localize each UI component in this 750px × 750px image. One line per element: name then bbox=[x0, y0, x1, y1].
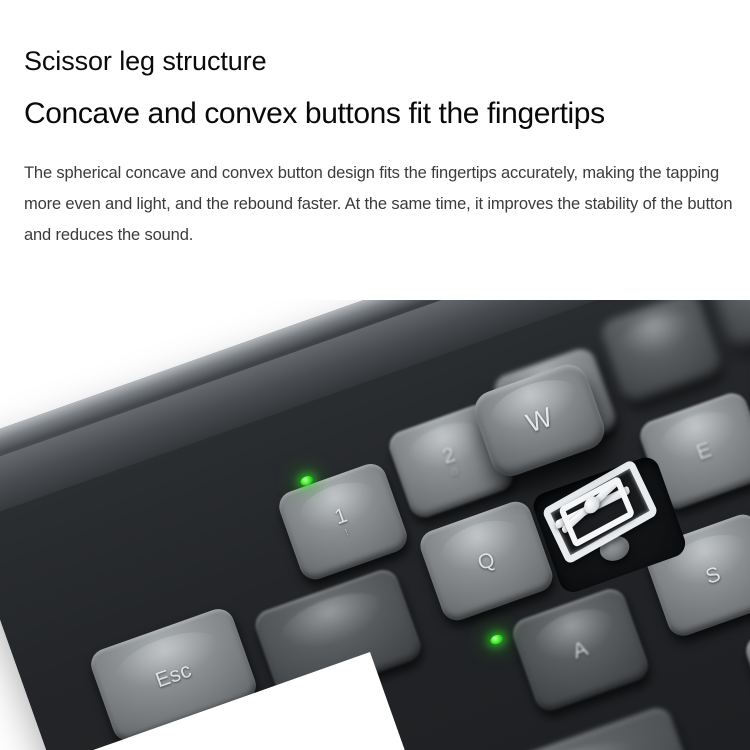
keycap-legend-q: Q bbox=[475, 548, 498, 573]
keyboard-photo: Esc1!2@3#QAESDZW bbox=[0, 300, 750, 750]
headline-primary: Scissor leg structure bbox=[24, 0, 726, 78]
keycap-legend-s: S bbox=[703, 563, 724, 588]
keycap-legend-sub: ! bbox=[344, 528, 350, 537]
keycap-four[interactable] bbox=[598, 300, 725, 406]
keycap-one[interactable]: 1! bbox=[275, 460, 411, 584]
keycap-legend-two: 2@ bbox=[440, 444, 462, 478]
removed-keycap-legend-main: W bbox=[523, 403, 556, 437]
feature-description: The spherical concave and convex button … bbox=[24, 132, 738, 251]
keycap-z[interactable]: Z bbox=[742, 602, 750, 732]
keycap-legend-main: 1 bbox=[332, 504, 350, 528]
keycap-legend-main: 2 bbox=[440, 444, 458, 468]
keycap-legend-main: Esc bbox=[153, 659, 194, 691]
headline-secondary: Concave and convex buttons fit the finge… bbox=[24, 78, 726, 132]
keycap-a[interactable]: A bbox=[509, 585, 652, 715]
keycap-spc[interactable] bbox=[384, 704, 699, 750]
keycap-legend-main: A bbox=[570, 637, 591, 662]
keycap-legend-main: S bbox=[703, 563, 724, 588]
led-num-indicator bbox=[489, 633, 504, 646]
keycap-legend-main: Q bbox=[475, 548, 498, 573]
keycap-legend-a: A bbox=[570, 637, 591, 662]
keycap-legend-main: E bbox=[694, 439, 715, 464]
product-feature-page: Scissor leg structure Concave and convex… bbox=[0, 0, 750, 750]
keycap-legend-one: 1! bbox=[332, 504, 354, 538]
keycap-legend-e: E bbox=[694, 439, 715, 464]
keycap-legend-esc: Esc bbox=[153, 659, 194, 691]
removed-keycap-legend: W bbox=[523, 403, 556, 437]
feature-text-block: Scissor leg structure Concave and convex… bbox=[0, 0, 750, 251]
keycap-legend-sub: @ bbox=[449, 466, 461, 478]
